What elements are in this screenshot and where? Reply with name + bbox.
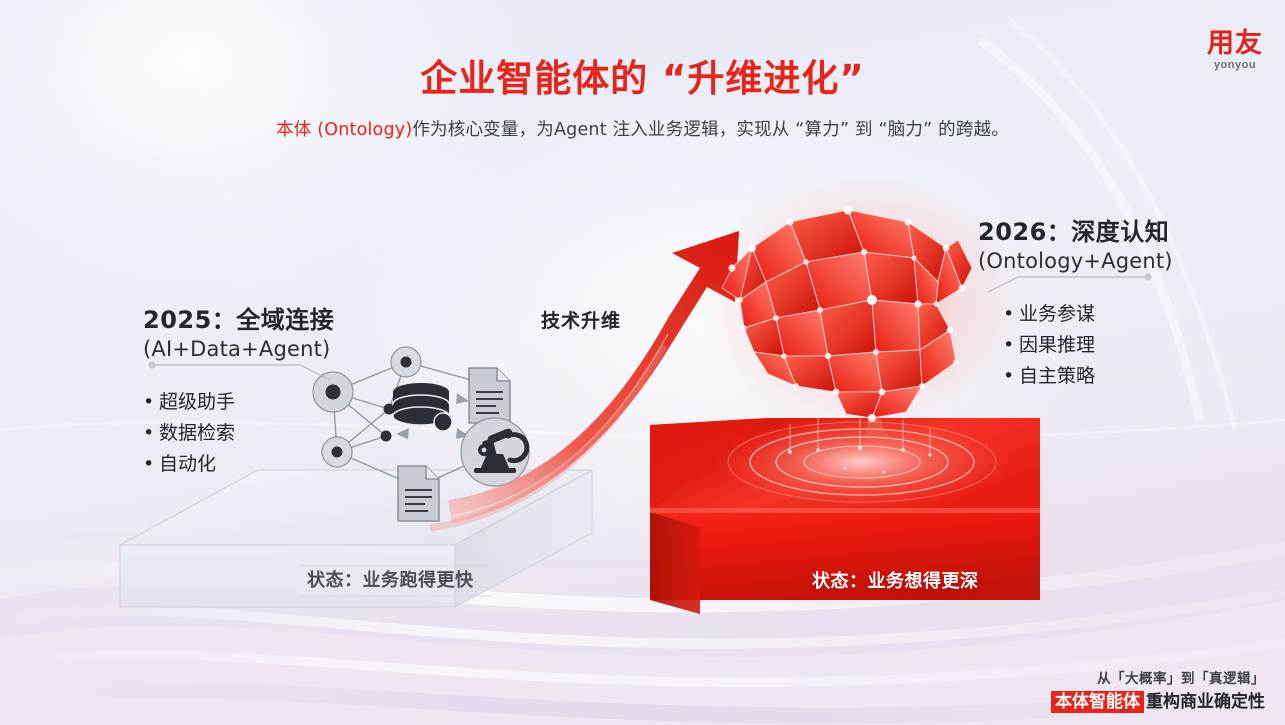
subtitle-rest: 作为核心变量，为Agent 注入业务逻辑，实现从 “算力” 到 “脑力” 的跨越… [412, 120, 1009, 140]
list-item: •自动化 [143, 449, 334, 480]
stage-left-heading: 2025：全域连接 [143, 300, 334, 335]
list-item-label: 自主策略 [1019, 365, 1095, 387]
footer-badge: 本体智能体 [1051, 691, 1144, 713]
subtitle-highlight: 本体 (Ontology) [276, 120, 412, 140]
slide-title: 企业智能体的 “升维进化” [0, 48, 1285, 102]
footer-line-2-rest: 重构商业确定性 [1146, 692, 1265, 712]
list-item: •因果推理 [1003, 330, 1173, 361]
bullet-dot-icon: • [1003, 361, 1019, 392]
list-item-label: 数据检索 [159, 422, 235, 444]
footer-line-2: 本体智能体重构商业确定性 [1051, 692, 1265, 713]
left-platform-status: 状态：业务跑得更快 [307, 566, 474, 592]
list-item: •业务参谋 [1003, 299, 1173, 330]
right-platform-status: 状态：业务想得更深 [812, 567, 979, 593]
list-item-label: 自动化 [159, 453, 216, 475]
list-item-label: 超级助手 [159, 391, 235, 413]
slide-subtitle: 本体 (Ontology)作为核心变量，为Agent 注入业务逻辑，实现从 “算… [0, 116, 1285, 141]
footer-tagline: 从「大概率」到「真逻辑」 本体智能体重构商业确定性 [1051, 671, 1265, 713]
stage-right-bullets: •业务参谋 •因果推理 •自主策略 [1003, 299, 1173, 391]
stage-right-block: 2026：深度认知 (Ontology+Agent) •业务参谋 •因果推理 •… [978, 212, 1173, 391]
list-item: •超级助手 [143, 387, 334, 418]
list-item-label: 业务参谋 [1019, 303, 1095, 325]
list-item: •数据检索 [143, 418, 334, 449]
bullet-dot-icon: • [1003, 330, 1019, 361]
list-item: •自主策略 [1003, 361, 1173, 392]
arrow-label: 技术升维 [541, 306, 621, 333]
stage-right-subheading: (Ontology+Agent) [978, 249, 1173, 273]
bullet-dot-icon: • [143, 418, 159, 449]
stage-left-bullets: •超级助手 •数据检索 •自动化 [143, 387, 334, 479]
stage-left-block: 2025：全域连接 (AI+Data+Agent) •超级助手 •数据检索 •自… [143, 300, 334, 479]
stage-right-heading: 2026：深度认知 [978, 212, 1173, 247]
slide-canvas: 用友 yonyou 企业智能体的 “升维进化” 本体 (Ontology)作为核… [0, 0, 1285, 725]
stage-left-subheading: (AI+Data+Agent) [143, 337, 334, 361]
bullet-dot-icon: • [1003, 299, 1019, 330]
bullet-dot-icon: • [143, 449, 159, 480]
list-item-label: 因果推理 [1019, 334, 1095, 356]
bullet-dot-icon: • [143, 387, 159, 418]
footer-line-1: 从「大概率」到「真逻辑」 [1051, 671, 1265, 688]
